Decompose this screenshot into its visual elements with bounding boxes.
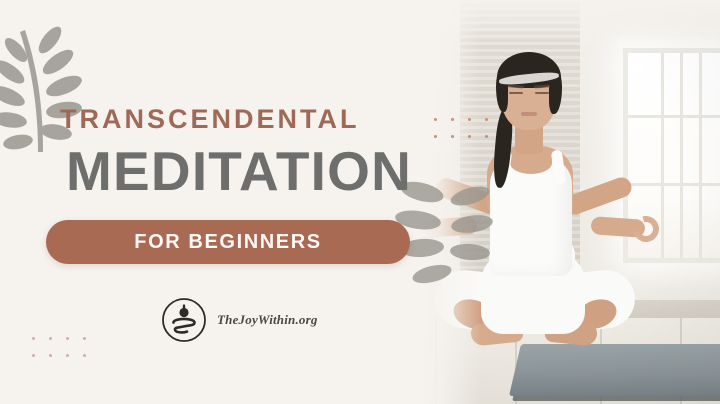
meditating-figure-logo-icon xyxy=(160,296,208,344)
dot-grid-bottom xyxy=(32,337,86,357)
brand-logo[interactable]: TheJoyWithin.org xyxy=(160,296,318,344)
website-label: TheJoyWithin.org xyxy=(217,312,318,328)
neckline xyxy=(510,152,552,174)
page-title: MEDITATION xyxy=(66,144,412,199)
right-eye-closed xyxy=(535,92,549,94)
right-hand-mudra xyxy=(628,211,664,247)
cta-label: FOR BEGINNERS xyxy=(134,231,321,254)
title-kicker: TRANSCENDENTAL xyxy=(60,104,360,135)
left-eye-closed xyxy=(509,92,523,94)
lips xyxy=(521,112,537,116)
dot-grid-top xyxy=(434,118,488,138)
thumbnail-canvas: TRANSCENDENTAL MEDITATION FOR BEGINNERS … xyxy=(0,0,720,404)
for-beginners-button[interactable]: FOR BEGINNERS xyxy=(46,220,410,264)
